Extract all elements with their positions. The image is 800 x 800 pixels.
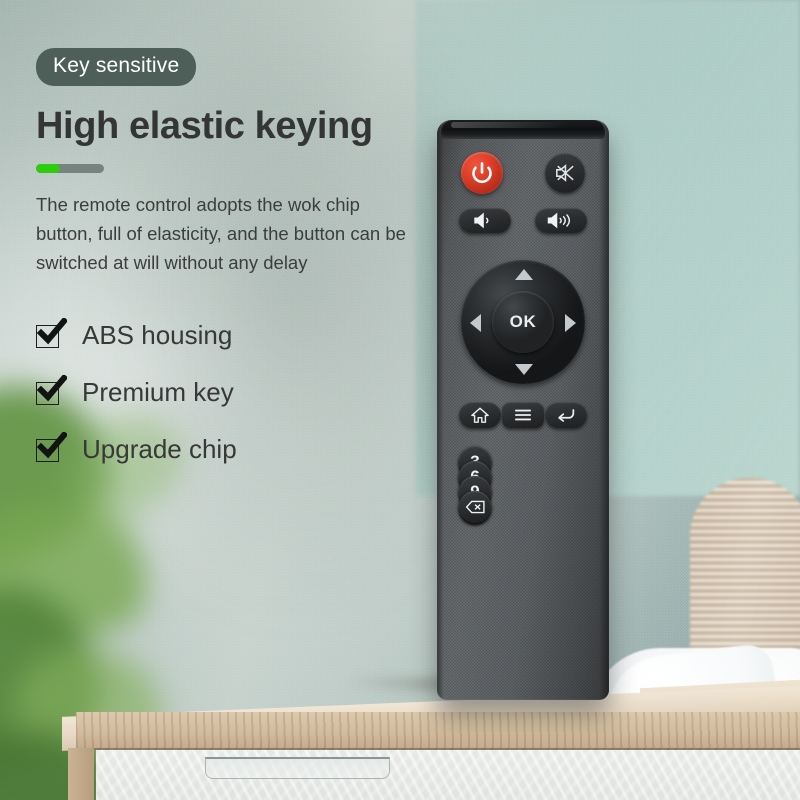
mute-button[interactable] (545, 153, 585, 193)
drawer-handle[interactable] (205, 757, 390, 779)
promo-headline: High elastic keying (36, 105, 436, 148)
feature-item-premium-key: Premium key (36, 377, 436, 408)
promo-copy-panel: Key sensitive High elastic keying The re… (36, 48, 436, 491)
remote-left-edge (437, 120, 444, 700)
arrow-left-icon[interactable] (470, 314, 481, 332)
arrow-down-icon[interactable] (515, 364, 533, 375)
nightstand-front-edge (76, 712, 800, 750)
feature-label: Premium key (82, 377, 234, 408)
home-icon (470, 406, 490, 424)
nightstand-leg (68, 748, 94, 800)
tv-remote-control: OK 1 2 3 (437, 120, 609, 700)
feature-item-upgrade-chip: Upgrade chip (36, 434, 436, 465)
volume-up-button[interactable] (535, 208, 587, 233)
drawer-texture (96, 750, 800, 800)
power-button[interactable] (461, 152, 503, 194)
checkbox-checked-icon (36, 322, 64, 348)
back-button[interactable] (545, 402, 587, 428)
menu-lines-icon (513, 407, 533, 423)
delete-button[interactable] (459, 491, 491, 523)
product-promo-scene: Key sensitive High elastic keying The re… (0, 0, 800, 800)
ok-button[interactable]: OK (492, 291, 554, 353)
back-arrow-icon (555, 407, 577, 424)
menu-button[interactable] (502, 402, 544, 428)
arrow-up-icon[interactable] (515, 269, 533, 280)
promo-badge: Key sensitive (36, 48, 196, 86)
home-button[interactable] (459, 402, 501, 428)
arrow-right-icon[interactable] (565, 314, 576, 332)
checkbox-checked-icon (36, 436, 64, 462)
dpad-ring[interactable]: OK (461, 260, 585, 384)
progress-indicator (36, 164, 104, 173)
ir-window (441, 120, 605, 139)
nightstand-drawer[interactable] (96, 750, 800, 800)
numeric-keypad: 1 2 3 4 5 6 7 8 9 (459, 446, 587, 506)
checkbox-checked-icon (36, 379, 64, 405)
promo-description: The remote control adopts the wok chip b… (36, 190, 421, 278)
backspace-icon (465, 500, 486, 514)
feature-item-abs-housing: ABS housing (36, 320, 436, 351)
power-icon (470, 161, 494, 185)
speaker-low-icon (472, 212, 498, 229)
feature-label: ABS housing (82, 320, 232, 351)
progress-fill (36, 164, 60, 173)
volume-down-button[interactable] (459, 208, 511, 233)
remote-right-edge (599, 120, 609, 700)
speaker-high-icon (546, 212, 576, 229)
feature-label: Upgrade chip (82, 434, 237, 465)
feature-list: ABS housing Premium key Upgrade chip (36, 320, 436, 465)
mute-speaker-icon (554, 163, 576, 183)
